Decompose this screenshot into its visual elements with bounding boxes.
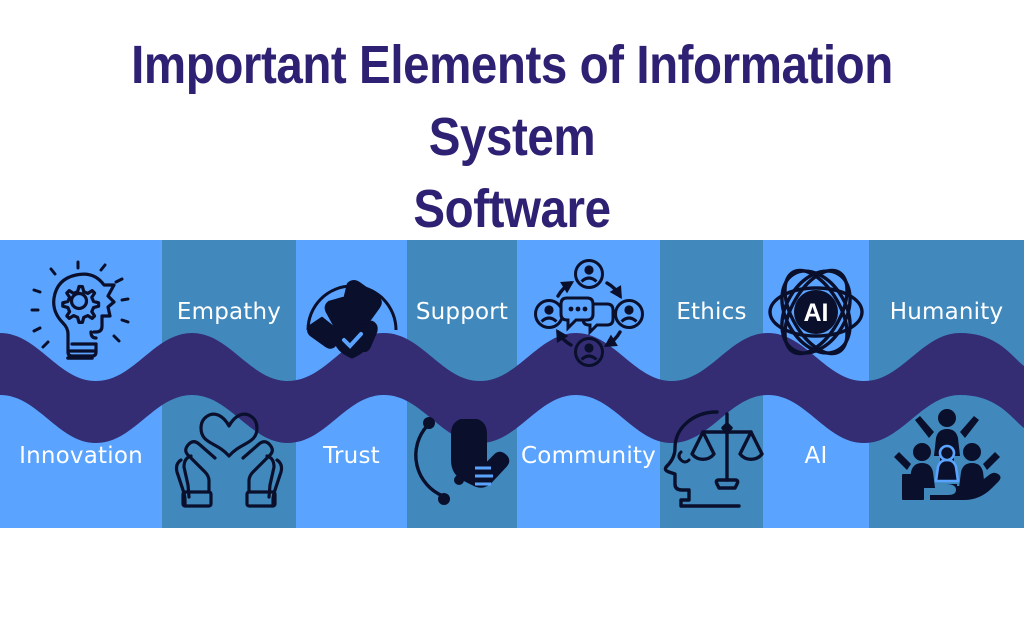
support-handshake-shield-icon xyxy=(296,240,407,384)
label-empathy: Empathy xyxy=(162,240,296,384)
support-handshake-shield-icon xyxy=(302,264,402,360)
trust-heart-in-hands-icon xyxy=(162,384,296,528)
community-network-people-chat-icon xyxy=(517,240,660,384)
label-trust-text: Trust xyxy=(323,443,380,469)
label-ethics-text: Ethics xyxy=(676,299,746,325)
label-ai: AI xyxy=(763,384,869,528)
label-community-text: Community xyxy=(521,443,656,469)
label-empathy-text: Empathy xyxy=(177,299,281,325)
label-ethics: Ethics xyxy=(660,240,763,384)
trust-heart-in-hands-icon xyxy=(171,404,287,508)
label-trust: Trust xyxy=(296,384,407,528)
label-support-text: Support xyxy=(416,299,508,325)
innovation-lightbulb-head-gear-icon xyxy=(28,260,134,364)
empathy-hand-reaching-icon xyxy=(413,406,511,506)
label-humanity: Humanity xyxy=(869,240,1024,384)
humanity-hand-holding-people-icon xyxy=(894,406,1000,506)
infographic-band: Empathy Support xyxy=(0,240,1024,528)
ethics-head-scales-icon xyxy=(659,406,765,506)
ai-icon-label: AI xyxy=(804,299,829,327)
page-title: Important Elements of Information System… xyxy=(90,30,935,245)
title-block: Important Elements of Information System… xyxy=(0,30,1024,245)
label-innovation-text: Innovation xyxy=(19,443,143,469)
ai-atom-icon: AI xyxy=(763,240,869,384)
label-community: Community xyxy=(517,384,660,528)
label-humanity-text: Humanity xyxy=(890,299,1004,325)
ethics-head-scales-icon xyxy=(660,384,763,528)
community-network-people-chat-icon xyxy=(533,258,645,366)
innovation-lightbulb-head-gear-icon xyxy=(0,240,162,384)
label-support: Support xyxy=(407,240,517,384)
ai-atom-icon: AI xyxy=(766,263,866,361)
label-ai-text: AI xyxy=(805,443,828,469)
label-innovation: Innovation xyxy=(0,384,162,528)
empathy-hand-reaching-icon xyxy=(407,384,517,528)
humanity-hand-holding-people-icon xyxy=(869,384,1024,528)
